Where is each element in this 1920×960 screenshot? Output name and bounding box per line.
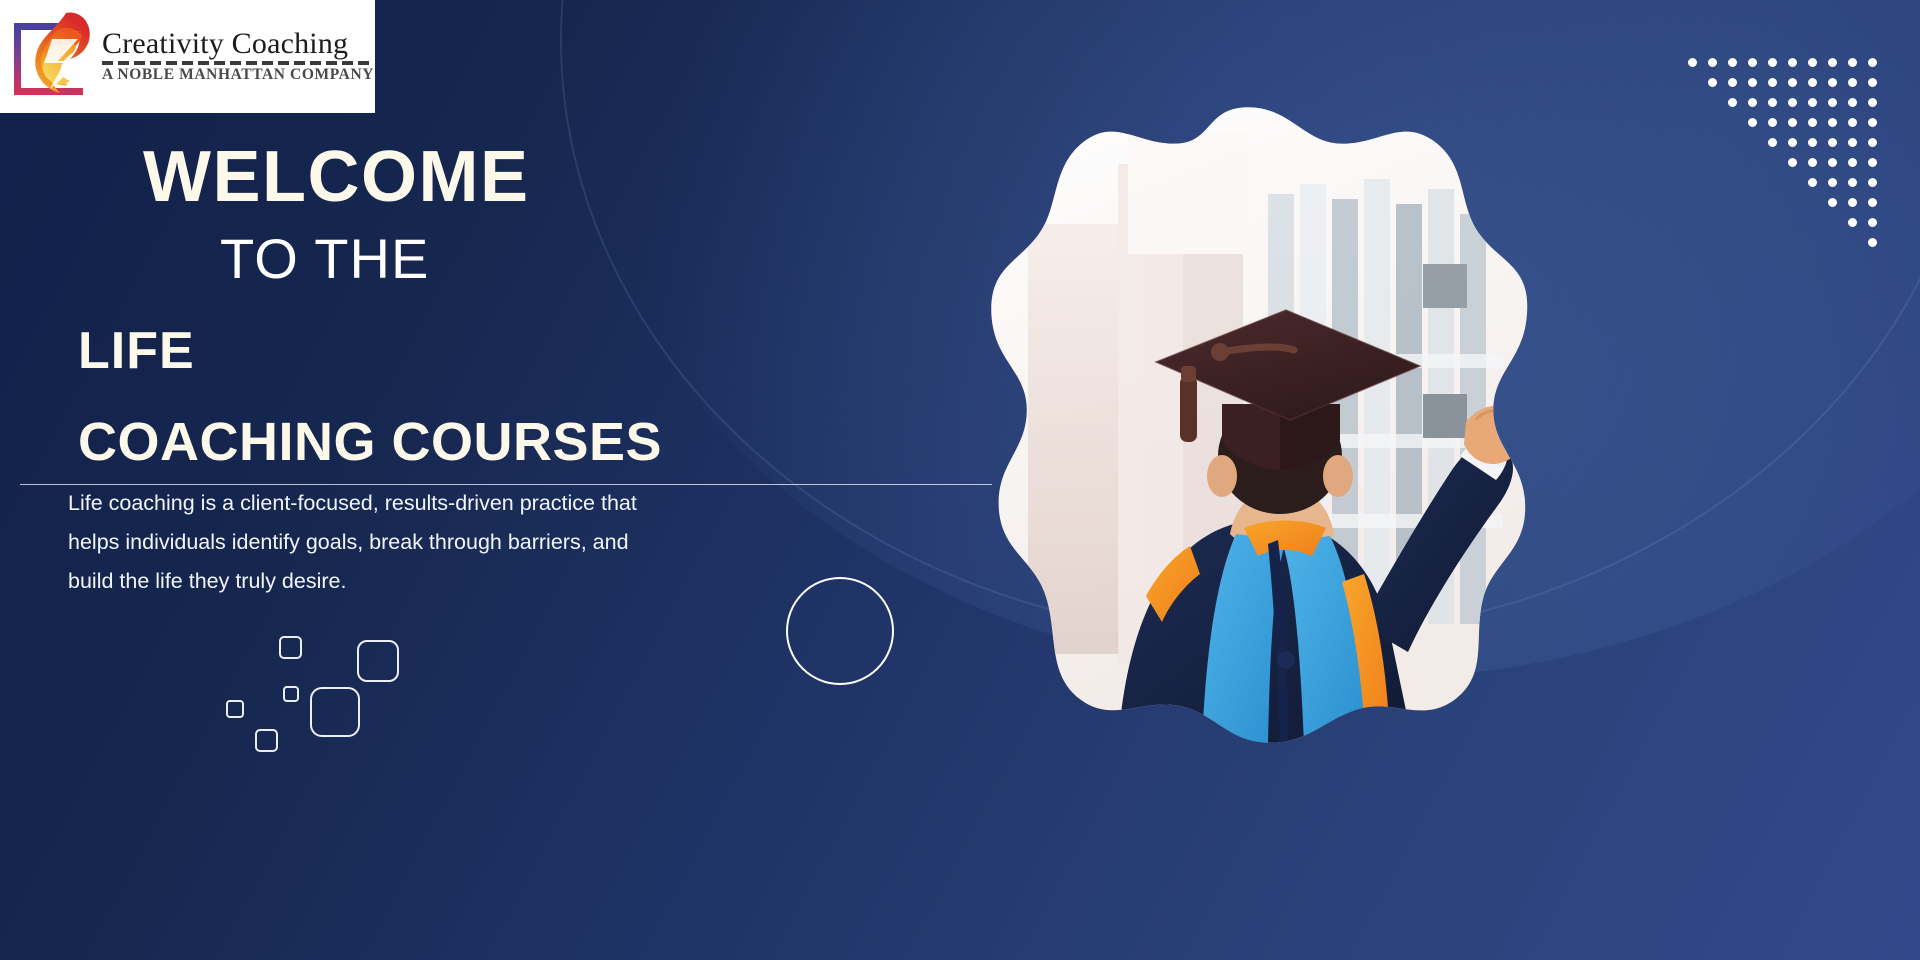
decor-dot <box>1848 218 1857 227</box>
decor-dot <box>1868 58 1877 67</box>
decor-dot <box>1848 58 1857 67</box>
circle-outline-decoration <box>786 577 894 685</box>
decor-dot <box>1828 138 1837 147</box>
decor-dot <box>1808 58 1817 67</box>
decor-dot <box>1848 138 1857 147</box>
decor-dot <box>1848 78 1857 87</box>
headline-welcome: WELCOME <box>143 141 529 213</box>
decor-dot <box>1808 98 1817 107</box>
square-outline-decoration-3 <box>283 686 299 702</box>
decor-dot <box>1808 78 1817 87</box>
logo-dashed-rule <box>102 61 370 65</box>
decor-dot <box>1868 158 1877 167</box>
decor-dot <box>1828 118 1837 127</box>
decor-dot <box>1868 218 1877 227</box>
decor-dot <box>1808 118 1817 127</box>
decor-dot <box>1748 78 1757 87</box>
decor-dot <box>1868 138 1877 147</box>
decor-dot <box>1868 118 1877 127</box>
decor-dot <box>1808 178 1817 187</box>
hero-description: Life coaching is a client-focused, resul… <box>68 484 668 601</box>
decor-dot <box>1728 98 1737 107</box>
flame-bracket-logo-icon <box>8 11 100 103</box>
decor-dot <box>1868 198 1877 207</box>
square-outline-decoration-1 <box>279 636 302 659</box>
decor-dot <box>1768 98 1777 107</box>
decor-dot <box>1788 158 1797 167</box>
decor-dot <box>1808 158 1817 167</box>
decor-dot <box>1868 98 1877 107</box>
logo-subtitle: A NOBLE MANHATTAN COMPANY <box>102 66 375 84</box>
decor-dot <box>1748 98 1757 107</box>
decor-dot <box>1788 58 1797 67</box>
decor-dot <box>1768 78 1777 87</box>
headline-to-the: TO THE <box>220 231 429 287</box>
square-outline-decoration-4 <box>226 700 244 718</box>
decor-dot <box>1748 118 1757 127</box>
decor-dot <box>1848 198 1857 207</box>
graduate-photo-illustration <box>968 104 1528 744</box>
graduate-photo <box>968 104 1528 744</box>
headline-life: LIFE <box>78 325 195 377</box>
decor-dot <box>1808 138 1817 147</box>
decor-dot <box>1748 58 1757 67</box>
decor-dot <box>1828 198 1837 207</box>
decor-dot <box>1768 118 1777 127</box>
logo-wordmark: Creativity Coaching A NOBLE MANHATTAN CO… <box>102 29 375 85</box>
decor-dot <box>1828 58 1837 67</box>
decor-dot <box>1848 98 1857 107</box>
decor-dot <box>1728 78 1737 87</box>
brand-logo[interactable]: Creativity Coaching A NOBLE MANHATTAN CO… <box>0 0 375 113</box>
decor-dot <box>1788 118 1797 127</box>
decor-dot <box>1728 58 1737 67</box>
decor-dot <box>1848 118 1857 127</box>
hero-banner: Creativity Coaching A NOBLE MANHATTAN CO… <box>0 0 1920 960</box>
decor-dot <box>1768 138 1777 147</box>
decor-dot <box>1868 178 1877 187</box>
square-outline-decoration-2 <box>357 640 399 682</box>
decor-dot <box>1848 158 1857 167</box>
decor-dot <box>1708 58 1717 67</box>
flame-icon <box>26 11 100 97</box>
decor-dot <box>1788 138 1797 147</box>
decor-dot <box>1768 58 1777 67</box>
decor-dot <box>1688 58 1697 67</box>
decor-dot <box>1868 238 1877 247</box>
decor-dot <box>1788 98 1797 107</box>
square-outline-decoration-5 <box>310 687 360 737</box>
decor-dot <box>1828 78 1837 87</box>
decor-dot <box>1848 178 1857 187</box>
decor-dot <box>1828 98 1837 107</box>
logo-title: Creativity Coaching <box>102 29 375 60</box>
decor-dot <box>1828 158 1837 167</box>
headline-coaching-courses: COACHING COURSES <box>78 415 662 469</box>
square-outline-decoration-6 <box>255 729 278 752</box>
decor-dot <box>1788 78 1797 87</box>
decor-dot <box>1708 78 1717 87</box>
decor-dot <box>1828 178 1837 187</box>
decor-dot <box>1868 78 1877 87</box>
